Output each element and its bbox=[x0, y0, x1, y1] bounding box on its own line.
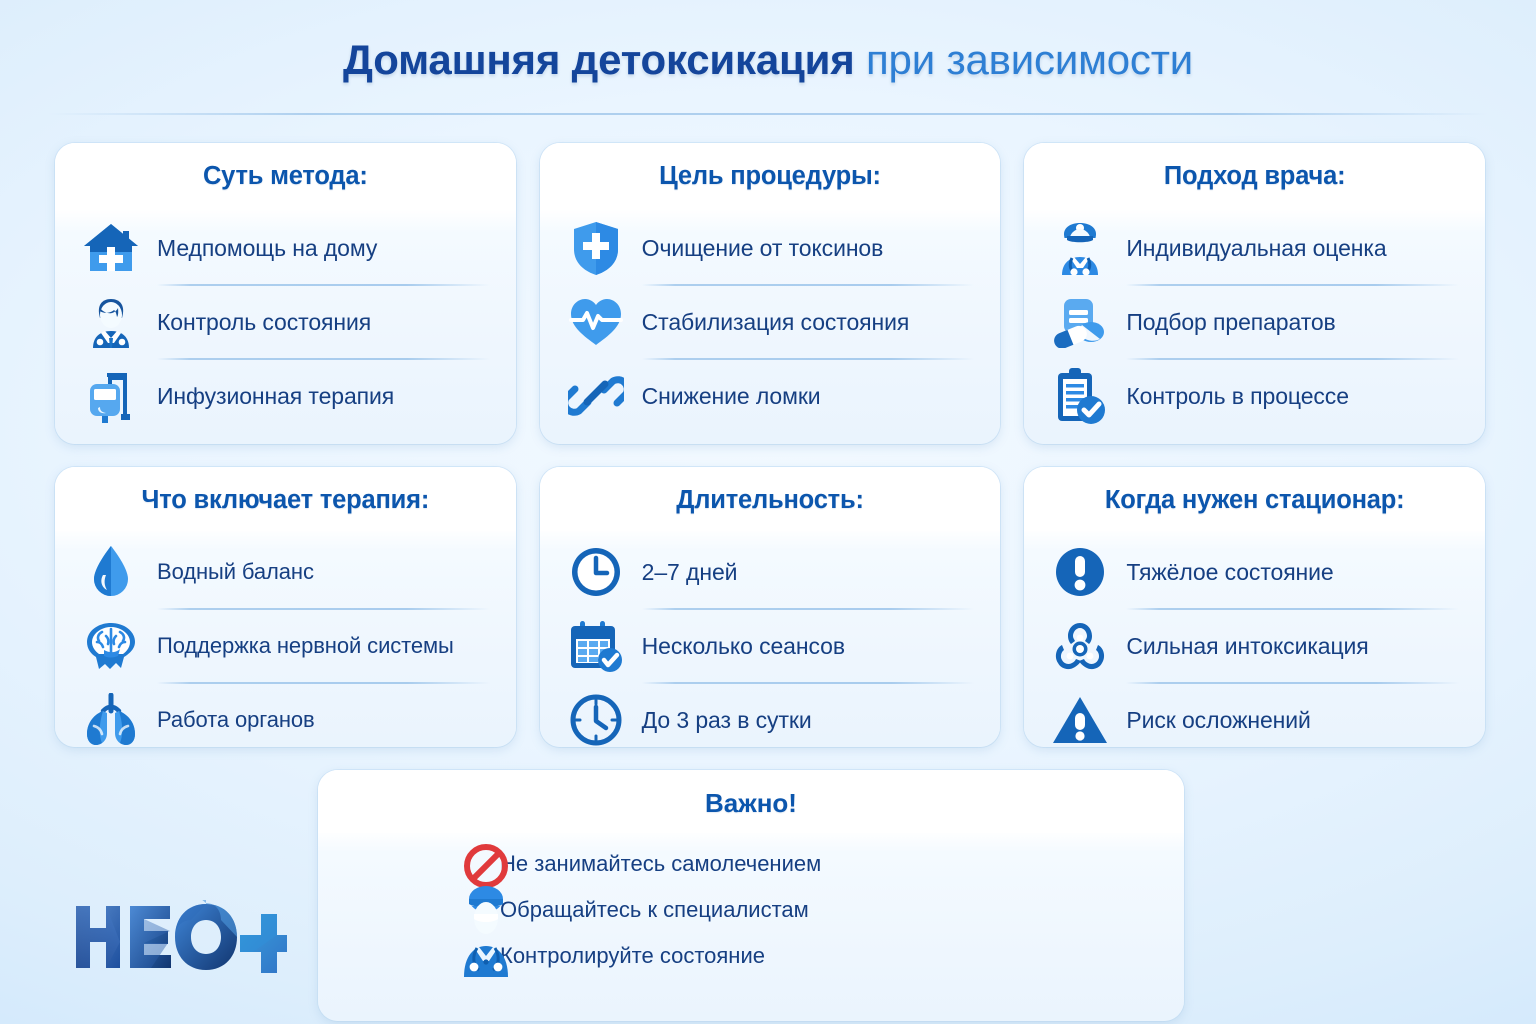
card-heading: Длительность: bbox=[540, 467, 1001, 531]
card-heading: Когда нужен стационар: bbox=[1024, 467, 1485, 531]
clock-outline-icon bbox=[564, 689, 628, 747]
card-items: Медпомощь на дому bbox=[55, 207, 516, 444]
list-item[interactable]: Риск осложнений bbox=[1048, 683, 1463, 747]
list-item[interactable]: Несколько сеансов bbox=[564, 609, 979, 683]
warning-triangle-icon bbox=[1048, 689, 1112, 747]
list-item-label: Медпомощь на дому bbox=[157, 235, 377, 262]
list-item[interactable]: Инфузионная терапия bbox=[79, 359, 494, 433]
brain-icon bbox=[79, 615, 143, 677]
list-item-label: Стабилизация состояния bbox=[642, 309, 910, 336]
card-vazhno: Важно! Не занимайт bbox=[318, 770, 1184, 1021]
pills-icon bbox=[1048, 291, 1112, 353]
card-items: Тяжёлое состояние bbox=[1024, 531, 1485, 747]
list-item-label: Несколько сеансов bbox=[642, 633, 845, 660]
card-items: Очищение от токсинов Стабилизация состоя… bbox=[540, 207, 1001, 444]
list-item-label: Сильная интоксикация bbox=[1126, 633, 1368, 660]
list-item-label: Инфузионная терапия bbox=[157, 383, 394, 410]
important-item-label: Не занимайтесь самолечением bbox=[500, 851, 821, 877]
important-items: Не занимайтесь самолечением Обращайтесь … bbox=[318, 833, 1184, 1021]
page-title-light: при зависимости bbox=[855, 36, 1193, 83]
exclamation-circle-icon bbox=[1048, 541, 1112, 603]
water-drop-icon bbox=[79, 541, 143, 603]
card-cel-procedury: Цель процедуры: Очищение от токсинов bbox=[540, 143, 1001, 444]
card-heading: Что включает терапия: bbox=[55, 467, 516, 531]
list-item[interactable]: Очищение от токсинов bbox=[564, 211, 979, 285]
list-item-label: Риск осложнений bbox=[1126, 707, 1310, 734]
list-item-label: До 3 раз в сутки bbox=[642, 707, 812, 734]
list-item[interactable]: Медпомощь на дому bbox=[79, 211, 494, 285]
logo-neo-plus bbox=[72, 900, 287, 974]
list-item-label: Поддержка нервной системы bbox=[157, 633, 454, 659]
list-item-label: Подбор препаратов bbox=[1126, 309, 1335, 336]
card-dlitelnost: Длительность: 2–7 дней bbox=[540, 467, 1001, 747]
chain-link-icon bbox=[564, 365, 628, 427]
shield-cross-icon bbox=[564, 217, 628, 279]
card-podhod-vracha: Подход врача: bbox=[1024, 143, 1485, 444]
important-list-item[interactable]: Обращайтесь к специалистам bbox=[318, 887, 1184, 933]
home-cross-icon bbox=[79, 217, 143, 279]
lungs-icon bbox=[79, 689, 143, 747]
card-chto-vklyuchaet-terapiya: Что включает терапия: Водный баланс bbox=[55, 467, 516, 747]
list-item[interactable]: Стабилизация состояния bbox=[564, 285, 979, 359]
list-item-label: Работа органов bbox=[157, 707, 315, 733]
list-item-label: Контроль состояния bbox=[157, 309, 371, 336]
important-list-item[interactable]: Контролируйте состояние bbox=[318, 933, 1184, 979]
card-items: Индивидуальная оценка bbox=[1024, 207, 1485, 444]
page-title-strong: Домашняя детоксикация bbox=[343, 36, 855, 83]
page-title: Домашняя детоксикация при зависимости bbox=[0, 36, 1536, 83]
list-item[interactable]: До 3 раз в сутки bbox=[564, 683, 979, 747]
heart-pulse-icon bbox=[564, 291, 628, 353]
card-grid: Суть метода: Медпомощь на дому bbox=[55, 143, 1485, 747]
list-item[interactable]: Контроль состояния bbox=[79, 285, 494, 359]
doctor-stethoscope-icon bbox=[1048, 217, 1112, 279]
list-item[interactable]: Снижение ломки bbox=[564, 359, 979, 433]
list-item[interactable]: Контроль в процессе bbox=[1048, 359, 1463, 433]
biohazard-icon bbox=[1048, 615, 1112, 677]
calendar-check-icon bbox=[564, 615, 628, 677]
list-item[interactable]: Тяжёлое состояние bbox=[1048, 535, 1463, 609]
list-item[interactable]: Поддержка нервной системы bbox=[79, 609, 494, 683]
important-item-label: Контролируйте состояние bbox=[500, 943, 765, 969]
list-item[interactable]: Подбор препаратов bbox=[1048, 285, 1463, 359]
ban-icon bbox=[458, 843, 514, 889]
list-item[interactable]: Водный баланс bbox=[79, 535, 494, 609]
clipboard-check-icon bbox=[1048, 365, 1112, 427]
list-item[interactable]: Работа органов bbox=[79, 683, 494, 747]
list-item-label: Водный баланс bbox=[157, 559, 314, 585]
card-items: Водный баланс bbox=[55, 531, 516, 747]
list-item-label: Контроль в процессе bbox=[1126, 383, 1349, 410]
list-item-label: Очищение от токсинов bbox=[642, 235, 884, 262]
important-item-label: Обращайтесь к специалистам bbox=[500, 897, 809, 923]
card-items: 2–7 дней bbox=[540, 531, 1001, 747]
important-list-item[interactable]: Не занимайтесь самолечением bbox=[318, 841, 1184, 887]
medical-worker-icon bbox=[458, 885, 514, 977]
list-item-label: 2–7 дней bbox=[642, 559, 738, 586]
list-item-label: Снижение ломки bbox=[642, 383, 821, 410]
iv-drip-icon bbox=[79, 365, 143, 427]
title-divider bbox=[48, 113, 1488, 115]
list-item-label: Индивидуальная оценка bbox=[1126, 235, 1386, 262]
card-heading: Важно! bbox=[318, 770, 1184, 833]
list-item[interactable]: 2–7 дней bbox=[564, 535, 979, 609]
card-kogda-nuzhen-stacionar: Когда нужен стационар: Тяжёлое состояние bbox=[1024, 467, 1485, 747]
clock-icon bbox=[564, 541, 628, 603]
list-item[interactable]: Индивидуальная оценка bbox=[1048, 211, 1463, 285]
list-item-label: Тяжёлое состояние bbox=[1126, 559, 1333, 586]
doctor-bust-icon bbox=[79, 291, 143, 353]
card-heading: Подход врача: bbox=[1024, 143, 1485, 207]
list-item[interactable]: Сильная интоксикация bbox=[1048, 609, 1463, 683]
card-heading: Цель процедуры: bbox=[540, 143, 1001, 207]
card-heading: Суть метода: bbox=[55, 143, 516, 207]
card-sut-metoda: Суть метода: Медпомощь на дому bbox=[55, 143, 516, 444]
